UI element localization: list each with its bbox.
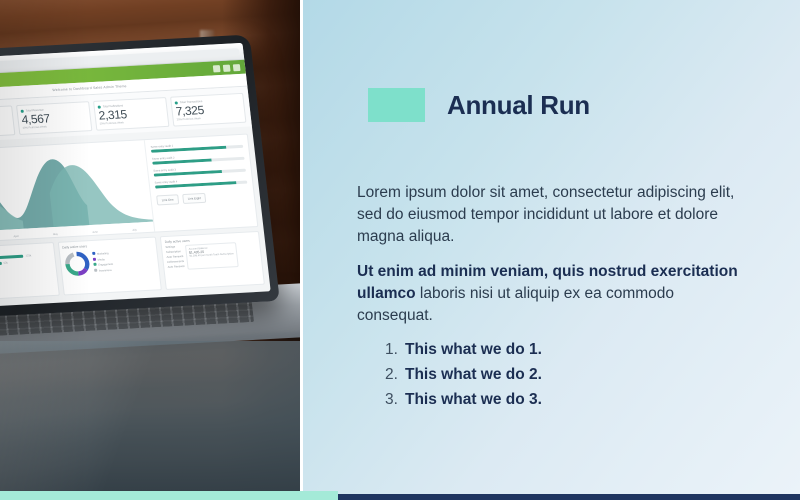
- content-panel: Annual Run Lorem ipsum dolor sit amet, c…: [303, 0, 800, 494]
- mini-bar-value: 52k: [3, 262, 8, 265]
- list-item-label: This what we do 2.: [405, 366, 542, 384]
- legend-item: Marketing: [92, 251, 112, 256]
- app-bell-icon: [223, 64, 231, 71]
- settings-item: Auto Renewal: [168, 265, 185, 269]
- donut-chart-icon: [63, 250, 92, 277]
- chart-link: Link Eight: [182, 193, 206, 204]
- presentation-slide: Welcome to Dashboard Sales Admin Theme T…: [0, 0, 800, 500]
- list-item-number: 1.: [385, 341, 405, 359]
- legend-label: Media: [98, 258, 105, 261]
- area-chart-svg: [0, 144, 153, 232]
- settings-card: Daily active users Settings Subscription…: [160, 231, 265, 290]
- settings-item: Settings: [165, 245, 182, 249]
- list-item-number: 3.: [385, 391, 405, 409]
- mini-bar-chart: 123k 52k 25k 5k: [0, 253, 53, 279]
- x-tick-label: June: [92, 231, 98, 234]
- area-chart: March April May June July: [0, 140, 154, 242]
- laptop-photo: Welcome to Dashboard Sales Admin Theme T…: [0, 0, 300, 491]
- kpi-footnote: 20% Profit last Week: [0, 127, 11, 134]
- account-balance-box: Account Balance $1,435.25 $1,398.40 per …: [185, 242, 238, 270]
- settings-item: Achievements: [167, 260, 184, 264]
- settings-item: Subscription: [166, 250, 183, 254]
- legend-item: Engagement: [93, 262, 113, 267]
- settings-item: Auto Renewal: [166, 255, 183, 259]
- progress-item: Same entry audit 1: [150, 141, 243, 153]
- legend-item: Awareness: [94, 267, 114, 272]
- laptop-lid: Welcome to Dashboard Sales Admin Theme T…: [0, 34, 280, 318]
- kpi-card: Total Transactions 7,325 20% Profit last…: [170, 93, 246, 127]
- kpi-card: Total Revenue 4,567 20% Profit last Week: [16, 101, 92, 135]
- app-avatar-icon: [233, 64, 241, 71]
- x-tick-label: May: [53, 233, 58, 236]
- list-item-label: This what we do 1.: [405, 341, 542, 359]
- mini-bar-value: 123k: [25, 254, 31, 257]
- legend-label: Marketing: [97, 252, 109, 256]
- legend-label: Awareness: [99, 268, 112, 272]
- list-item: 2. This what we do 2.: [385, 366, 745, 384]
- donut-row: Marketing Media Engagement Awareness: [63, 247, 157, 278]
- list-item: 1. This what we do 1.: [385, 341, 745, 359]
- list-item-label: This what we do 3.: [405, 391, 542, 409]
- list-item-number: 2.: [385, 366, 405, 384]
- progress-item: Same entry audit 2: [152, 153, 245, 165]
- title-row: Annual Run: [368, 88, 590, 122]
- page-title: Annual Run: [447, 90, 590, 121]
- kpi-card: Total Collections 2,315 20% Profit last …: [93, 97, 169, 131]
- paragraph-one: Lorem ipsum dolor sit amet, consectetur …: [357, 182, 747, 248]
- kpi-card: Total Sales 2,500 20% Profit last Week: [0, 105, 15, 139]
- paragraph-two: Ut enim ad minim veniam, quis nostrud ex…: [357, 261, 747, 327]
- chart-links: Link One Link Eight: [156, 191, 249, 206]
- bottom-accent-bar-mint: [0, 491, 338, 500]
- list-item: 3. This what we do 3.: [385, 391, 745, 409]
- progress-item: Same entry audit 4: [155, 177, 248, 189]
- x-tick-label: July: [132, 229, 137, 232]
- legend-item: Media: [92, 256, 112, 261]
- app-menu-icon: [213, 65, 221, 72]
- dashboard-subheader-text: Welcome to Dashboard Sales Admin Theme: [52, 84, 127, 92]
- laptop-screen: Welcome to Dashboard Sales Admin Theme T…: [0, 43, 271, 308]
- settings-list: Settings Subscription Auto Renewal Achie…: [165, 245, 185, 271]
- progress-item: Same entry audit 3: [153, 165, 246, 177]
- accent-block-icon: [368, 88, 425, 122]
- chart-link: Link One: [156, 194, 179, 205]
- donut-chart-card: Daily active users Marketing: [57, 236, 162, 295]
- mini-bar: 5k: [0, 271, 53, 279]
- progress-panel: Same entry audit 1 Same entry audit 2 Sa…: [144, 135, 257, 232]
- laptop-device: Welcome to Dashboard Sales Admin Theme T…: [0, 20, 300, 390]
- legend-label: Engagement: [98, 263, 113, 267]
- chart-panel: March April May June July Same entry aud…: [0, 134, 258, 244]
- desk-sheen: [0, 341, 300, 491]
- donut-legend: Marketing Media Engagement Awareness: [92, 251, 114, 274]
- x-tick-label: April: [13, 235, 19, 238]
- bottom-accent-bar-navy: [338, 494, 800, 500]
- numbered-list: 1. This what we do 1. 2. This what we do…: [385, 341, 745, 416]
- bar-chart-card: Daily active users 123k 52k 25k 5k: [0, 242, 60, 301]
